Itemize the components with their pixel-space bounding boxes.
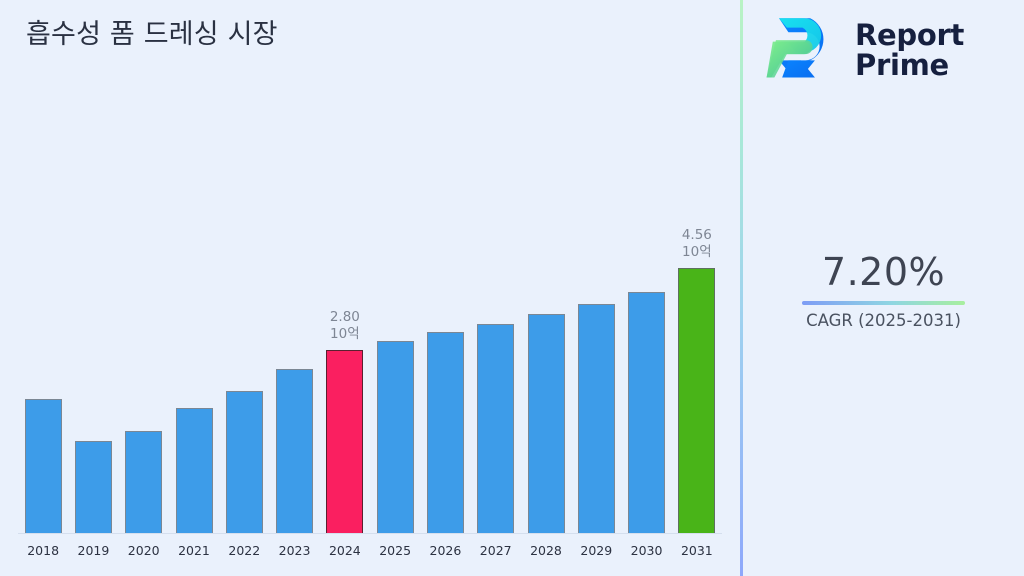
x-tick-2026: 2026 (420, 543, 470, 558)
brand-name: Report Prime (855, 21, 964, 80)
x-tick-2031: 2031 (672, 543, 722, 558)
bar-2024 (326, 350, 363, 533)
chart-screenshot-root: 흡수성 폼 드레싱 시장 2.8010억4.5610억 201820192020… (0, 0, 1024, 576)
data-label-unit-2024: 10억 (285, 326, 405, 343)
data-label-value-2031: 4.56 (637, 227, 757, 244)
x-tick-2029: 2029 (571, 543, 621, 558)
x-tick-2021: 2021 (169, 543, 219, 558)
brand-logo: Report Prime (765, 12, 964, 90)
bar-chart: 2.8010억4.5610억 2018201920202021202220232… (0, 0, 740, 576)
bar-2022 (226, 391, 263, 533)
cagr-block: 7.20% CAGR (2025-2031) (743, 250, 1024, 330)
bar-2018 (25, 399, 62, 533)
bar-2027 (477, 324, 514, 533)
x-tick-2022: 2022 (219, 543, 269, 558)
bar-2023 (276, 369, 313, 533)
bar-2030 (628, 292, 665, 533)
bar-2025 (377, 341, 414, 533)
bar-2019 (75, 441, 112, 533)
x-tick-2023: 2023 (269, 543, 319, 558)
bar-2026 (427, 332, 464, 533)
bar-2031 (678, 268, 715, 533)
data-label-2024: 2.8010억 (285, 309, 405, 343)
x-tick-2019: 2019 (68, 543, 118, 558)
data-label-value-2024: 2.80 (285, 309, 405, 326)
bar-2020 (125, 431, 162, 533)
x-tick-2024: 2024 (320, 543, 370, 558)
brand-name-line2: Prime (855, 48, 949, 82)
side-panel: Report Prime 7.20% CAGR (2025-2031) (743, 0, 1024, 576)
x-tick-2027: 2027 (471, 543, 521, 558)
bar-2021 (176, 408, 213, 533)
bar-2028 (528, 314, 565, 533)
x-tick-2018: 2018 (18, 543, 68, 558)
cagr-divider-rule (802, 301, 965, 305)
x-tick-2020: 2020 (119, 543, 169, 558)
data-label-2031: 4.5610억 (637, 227, 757, 261)
x-tick-2025: 2025 (370, 543, 420, 558)
x-tick-2028: 2028 (521, 543, 571, 558)
x-tick-2030: 2030 (621, 543, 671, 558)
bar-2029 (578, 304, 615, 533)
chart-baseline (18, 533, 722, 534)
data-label-unit-2031: 10억 (637, 244, 757, 261)
cagr-caption: CAGR (2025-2031) (743, 311, 1024, 330)
cagr-value: 7.20% (743, 250, 1024, 294)
report-prime-logo-icon (765, 12, 843, 90)
